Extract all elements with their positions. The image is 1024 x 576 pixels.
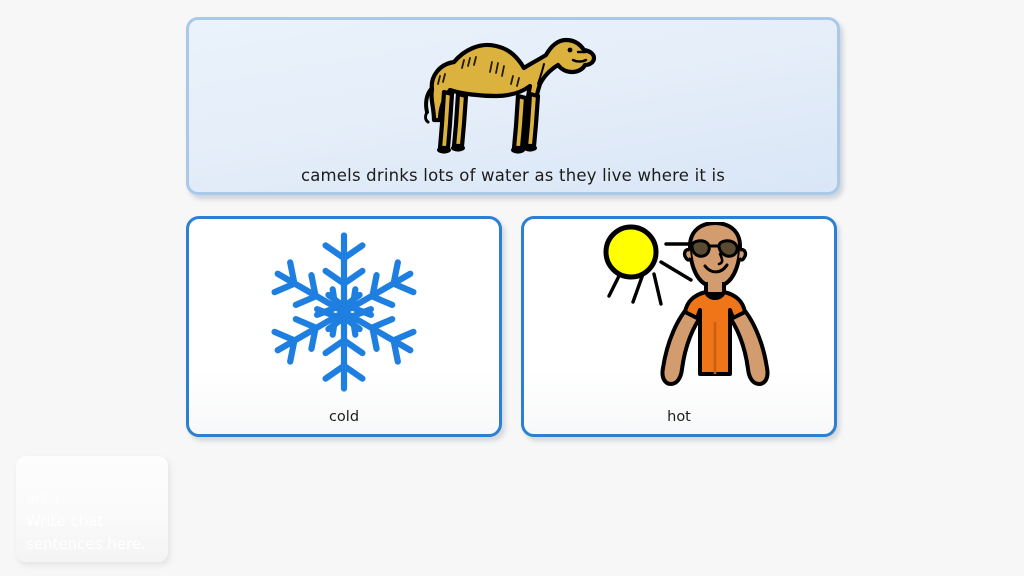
activity-stage: camels drinks lots of water as they live…	[0, 0, 1024, 576]
chat-hint-line-1: Chat / text box	[26, 464, 158, 487]
chat-hint-line-4: sentences here.	[26, 533, 158, 556]
snowflake-icon	[259, 226, 429, 398]
sentence-caption: camels drinks lots of water as they live…	[189, 166, 837, 185]
choice-label-hot: hot	[524, 409, 834, 425]
hot-image	[524, 221, 834, 403]
camel-image	[189, 24, 837, 164]
choice-label-cold: cold	[189, 409, 499, 425]
camel-sentence-card[interactable]: camels drinks lots of water as they live…	[186, 17, 840, 195]
camel-icon	[418, 24, 608, 164]
snowflake-image	[189, 221, 499, 403]
sun-person-icon	[569, 222, 789, 402]
choice-card-cold[interactable]: cold	[186, 216, 502, 437]
chat-hint-panel[interactable]: Chat / text box area. Write chat sentenc…	[16, 456, 168, 562]
chat-hint-line-2: area.	[26, 487, 158, 510]
chat-hint-line-3: Write chat	[26, 510, 158, 533]
choice-card-hot[interactable]: hot	[521, 216, 837, 437]
